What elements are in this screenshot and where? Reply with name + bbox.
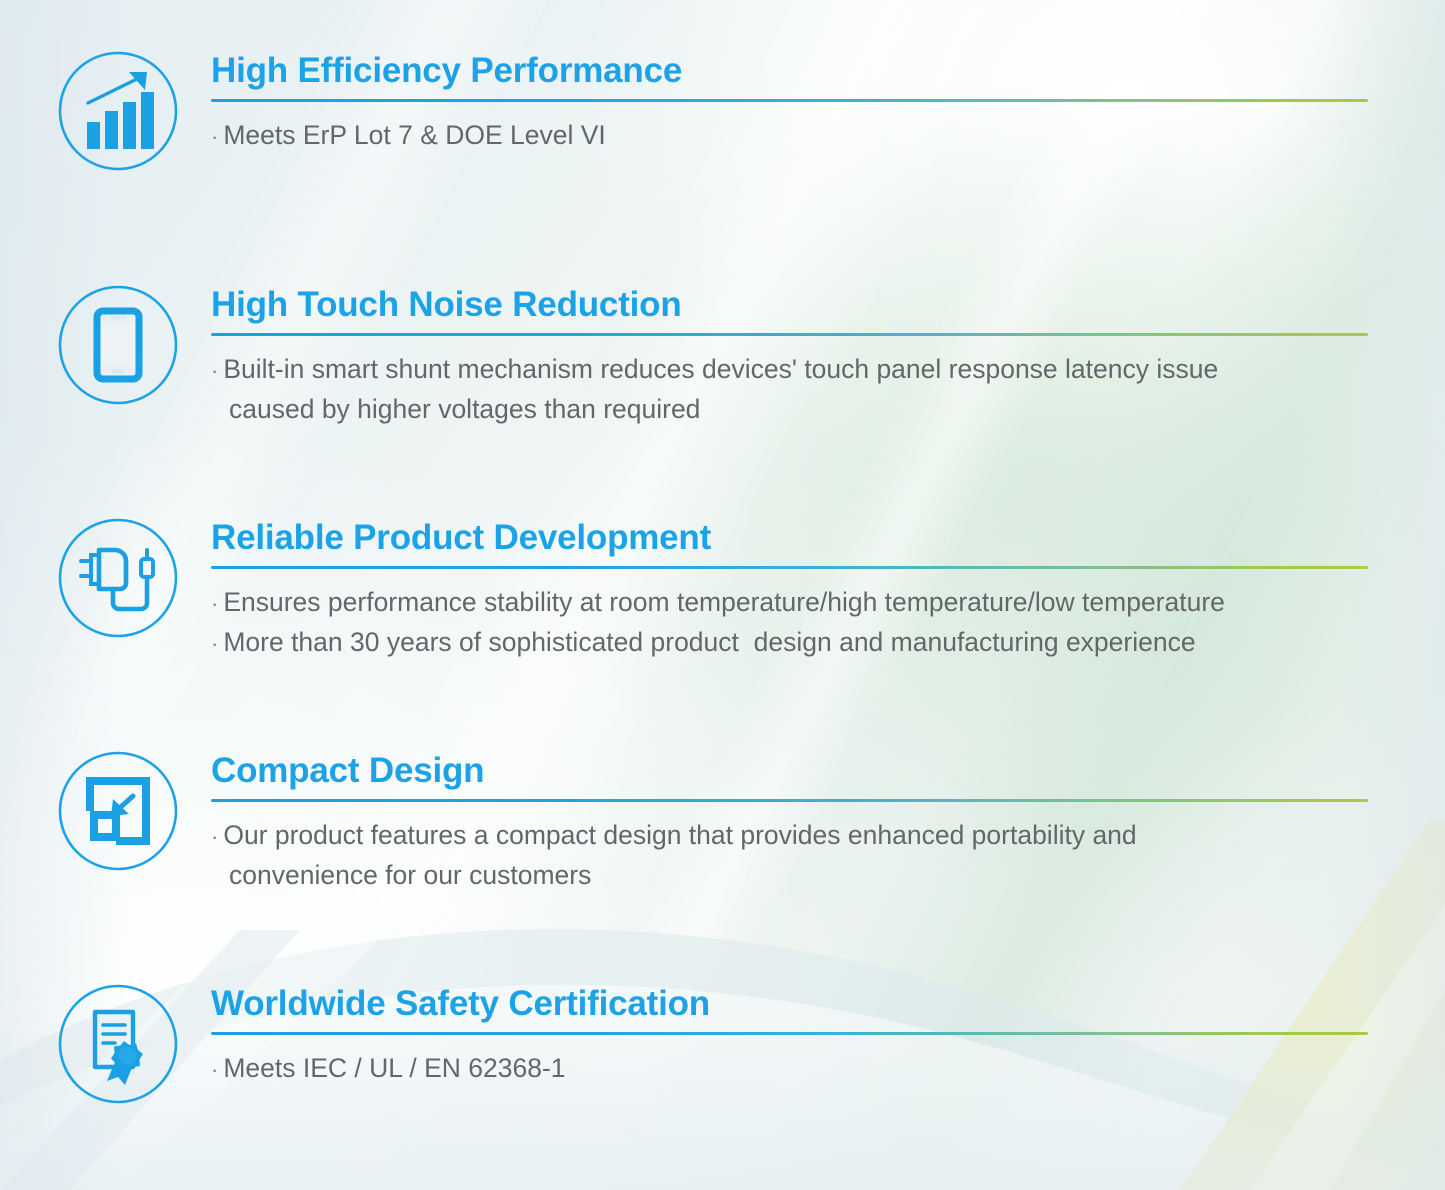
bullet-marker: · — [211, 591, 223, 616]
bullet-marker: · — [211, 631, 223, 656]
feature-body: Compact Design ·Our product features a c… — [211, 750, 1371, 894]
bullet-text: Built-in smart shunt mechanism reduces d… — [223, 354, 1218, 384]
bullet-text: Ensures performance stability at room te… — [223, 587, 1225, 617]
feature-highlights-page: High Efficiency Performance ·Meets ErP L… — [0, 0, 1445, 1190]
compact-resize-icon — [57, 750, 179, 872]
bullet-continuation-line: caused by higher voltages than required — [211, 390, 1371, 428]
feature-title: Reliable Product Development — [211, 517, 1371, 559]
bullet-marker: · — [211, 824, 223, 849]
bullet-text: Meets ErP Lot 7 & DOE Level VI — [223, 120, 605, 150]
bullet-marker: · — [211, 358, 223, 383]
smartphone-icon — [57, 284, 179, 406]
feature-title: Worldwide Safety Certification — [211, 983, 1371, 1025]
bullet-item: ·Meets IEC / UL / EN 62368-1 — [211, 1049, 1371, 1089]
bullet-item: ·More than 30 years of sophisticated pro… — [211, 623, 1371, 663]
feature-bullets: ·Meets ErP Lot 7 & DOE Level VI — [211, 116, 1371, 156]
bullet-marker: · — [211, 1057, 223, 1082]
bullet-item: ·Our product features a compact design t… — [211, 816, 1371, 856]
feature-divider — [211, 1032, 1368, 1035]
feature-bullets: ·Ensures performance stability at room t… — [211, 583, 1371, 663]
bullet-continuation: convenience for our customers — [211, 856, 591, 894]
feature-bullets: ·Meets IEC / UL / EN 62368-1 — [211, 1049, 1371, 1089]
bullet-item: ·Built-in smart shunt mechanism reduces … — [211, 350, 1371, 390]
bullet-item: ·Ensures performance stability at room t… — [211, 583, 1371, 623]
bullet-text: Our product features a compact design th… — [223, 820, 1136, 850]
feature-body: Reliable Product Development ·Ensures pe… — [211, 517, 1371, 663]
feature-divider — [211, 333, 1368, 336]
feature-body: High Touch Noise Reduction ·Built-in sma… — [211, 284, 1371, 428]
bullet-continuation: caused by higher voltages than required — [211, 390, 700, 428]
feature-divider — [211, 99, 1368, 102]
bar-chart-growth-icon — [57, 50, 179, 172]
feature-divider — [211, 799, 1368, 802]
feature-body: High Efficiency Performance ·Meets ErP L… — [211, 50, 1371, 156]
bullet-item: ·Meets ErP Lot 7 & DOE Level VI — [211, 116, 1371, 156]
power-adapter-icon — [57, 517, 179, 639]
bullet-text: Meets IEC / UL / EN 62368-1 — [223, 1053, 565, 1083]
feature-title: High Efficiency Performance — [211, 50, 1371, 92]
feature-bullets: ·Our product features a compact design t… — [211, 816, 1371, 894]
bullet-text: More than 30 years of sophisticated prod… — [223, 627, 1195, 657]
feature-title: High Touch Noise Reduction — [211, 284, 1371, 326]
feature-divider — [211, 566, 1368, 569]
certificate-seal-icon — [57, 983, 179, 1105]
feature-bullets: ·Built-in smart shunt mechanism reduces … — [211, 350, 1371, 428]
feature-body: Worldwide Safety Certification ·Meets IE… — [211, 983, 1371, 1089]
bullet-marker: · — [211, 124, 223, 149]
bullet-continuation-line: convenience for our customers — [211, 856, 1371, 894]
feature-title: Compact Design — [211, 750, 1371, 792]
